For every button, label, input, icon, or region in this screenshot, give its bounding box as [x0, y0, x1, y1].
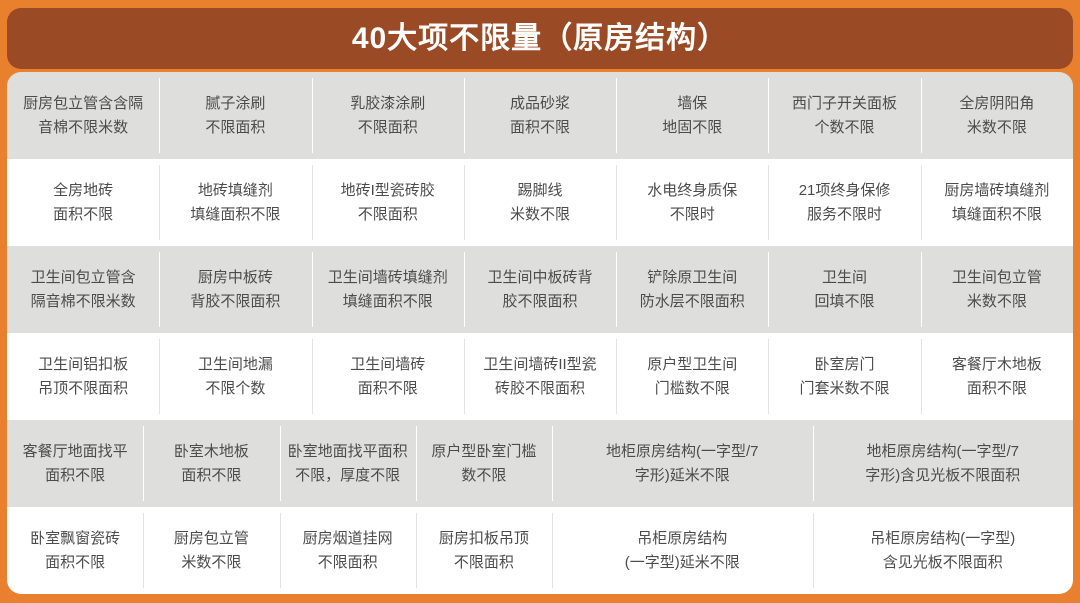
benefit-cell-label: 厨房墙砖填缝剂 填缝面积不限 — [944, 179, 1049, 226]
benefit-cell-label: 卫生间 回填不限 — [815, 266, 875, 313]
table-row: 卫生间铝扣板 吊顶不限面积卫生间地漏 不限个数卫生间墙砖 面积不限卫生间墙砖II… — [7, 333, 1073, 420]
page-banner: 40大项不限量（原房结构） — [7, 8, 1073, 69]
benefit-cell-label: 腻子涂刷 不限面积 — [205, 92, 265, 139]
benefit-cell[interactable]: 客餐厅地面找平 面积不限 — [7, 420, 143, 507]
benefit-cell[interactable]: 墙保 地固不限 — [616, 72, 768, 159]
benefit-cell-label: 厨房包立管 米数不限 — [174, 527, 249, 574]
benefit-cell[interactable]: 卧室地面找平面积 不限，厚度不限 — [280, 420, 416, 507]
benefit-cell[interactable]: 全房地砖 面积不限 — [7, 159, 159, 246]
benefit-cell-label: 卧室木地板 面积不限 — [174, 440, 249, 487]
benefit-cell[interactable]: 客餐厅木地板 面积不限 — [921, 333, 1073, 420]
benefit-cell-label: 地砖填缝剂 填缝面积不限 — [190, 179, 280, 226]
benefit-cell[interactable]: 厨房包立管含含隔 音棉不限米数 — [7, 72, 159, 159]
page-title: 40大项不限量（原房结构） — [352, 24, 728, 54]
benefit-cell-label: 厨房扣板吊顶 不限面积 — [439, 527, 529, 574]
benefit-cell-label: 卧室房门 门套米数不限 — [800, 353, 890, 400]
benefit-cell-label: 卫生间中板砖背 胶不限面积 — [487, 266, 592, 313]
benefit-cell[interactable]: 卧室飘窗瓷砖 面积不限 — [7, 507, 143, 594]
benefit-cell[interactable]: 卫生间 回填不限 — [768, 246, 920, 333]
benefit-cell[interactable]: 全房阴阳角 米数不限 — [921, 72, 1073, 159]
benefit-cell[interactable]: 卫生间包立管含 隔音棉不限米数 — [7, 246, 159, 333]
benefit-cell[interactable]: 卫生间墙砖II型瓷 砖胶不限面积 — [464, 333, 616, 420]
benefit-cell[interactable]: 吊柜原房结构(一字型) 含见光板不限面积 — [813, 507, 1074, 594]
benefit-cell[interactable]: 卫生间铝扣板 吊顶不限面积 — [7, 333, 159, 420]
benefit-cell-label: 吊柜原房结构 (一字型)延米不限 — [625, 527, 740, 574]
benefit-cell[interactable]: 厨房烟道挂网 不限面积 — [280, 507, 416, 594]
benefit-cell[interactable]: 铲除原卫生间 防水层不限面积 — [616, 246, 768, 333]
benefit-cell-label: 西门子开关面板 个数不限 — [792, 92, 897, 139]
benefits-grid: 厨房包立管含含隔 音棉不限米数腻子涂刷 不限面积乳胶漆涂刷 不限面积成品砂浆 面… — [7, 72, 1073, 594]
benefit-cell-label: 厨房包立管含含隔 音棉不限米数 — [23, 92, 143, 139]
benefit-cell-label: 地柜原房结构(一字型/7 字形)延米不限 — [606, 440, 759, 487]
benefit-cell[interactable]: 厨房墙砖填缝剂 填缝面积不限 — [921, 159, 1073, 246]
benefit-cell-label: 成品砂浆 面积不限 — [510, 92, 570, 139]
benefit-cell[interactable]: 地砖I型瓷砖胶 不限面积 — [312, 159, 464, 246]
benefit-cell-label: 卧室飘窗瓷砖 面积不限 — [30, 527, 120, 574]
benefit-cell[interactable]: 21项终身保修 服务不限时 — [768, 159, 920, 246]
table-row: 卧室飘窗瓷砖 面积不限厨房包立管 米数不限厨房烟道挂网 不限面积厨房扣板吊顶 不… — [7, 507, 1073, 594]
table-row: 卫生间包立管含 隔音棉不限米数厨房中板砖 背胶不限面积卫生间墙砖填缝剂 填缝面积… — [7, 246, 1073, 333]
benefit-cell[interactable]: 原户型卫生间 门槛数不限 — [616, 333, 768, 420]
benefit-cell-label: 客餐厅地面找平 面积不限 — [23, 440, 128, 487]
benefit-cell-label: 地砖I型瓷砖胶 不限面积 — [341, 179, 435, 226]
benefit-cell[interactable]: 厨房扣板吊顶 不限面积 — [416, 507, 552, 594]
benefit-cell-label: 原户型卧室门槛 数不限 — [431, 440, 536, 487]
benefit-cell[interactable]: 乳胶漆涂刷 不限面积 — [312, 72, 464, 159]
table-row: 厨房包立管含含隔 音棉不限米数腻子涂刷 不限面积乳胶漆涂刷 不限面积成品砂浆 面… — [7, 72, 1073, 159]
benefit-cell[interactable]: 水电终身质保 不限时 — [616, 159, 768, 246]
benefit-cell-label: 卫生间包立管含 隔音棉不限米数 — [31, 266, 136, 313]
benefit-cell-label: 卫生间地漏 不限个数 — [198, 353, 273, 400]
benefit-cell-label: 墙保 地固不限 — [662, 92, 722, 139]
benefit-cell-label: 卫生间墙砖填缝剂 填缝面积不限 — [328, 266, 448, 313]
benefit-cell[interactable]: 卫生间墙砖 面积不限 — [312, 333, 464, 420]
benefit-cell-label: 卧室地面找平面积 不限，厚度不限 — [288, 440, 408, 487]
benefit-cell-label: 21项终身保修 服务不限时 — [799, 179, 891, 226]
benefit-cell[interactable]: 成品砂浆 面积不限 — [464, 72, 616, 159]
benefit-cell[interactable]: 腻子涂刷 不限面积 — [159, 72, 311, 159]
benefit-cell[interactable]: 卫生间地漏 不限个数 — [159, 333, 311, 420]
benefit-cell[interactable]: 卧室木地板 面积不限 — [143, 420, 279, 507]
benefit-cell[interactable]: 厨房包立管 米数不限 — [143, 507, 279, 594]
benefit-cell-label: 全房阴阳角 米数不限 — [959, 92, 1034, 139]
table-row: 全房地砖 面积不限地砖填缝剂 填缝面积不限地砖I型瓷砖胶 不限面积踢脚线 米数不… — [7, 159, 1073, 246]
benefit-cell-label: 厨房中板砖 背胶不限面积 — [190, 266, 280, 313]
benefit-cell[interactable]: 吊柜原房结构 (一字型)延米不限 — [552, 507, 813, 594]
benefit-cell[interactable]: 地柜原房结构(一字型/7 字形)延米不限 — [552, 420, 813, 507]
benefit-cell[interactable]: 地柜原房结构(一字型/7 字形)含见光板不限面积 — [813, 420, 1074, 507]
promo-table-page: 40大项不限量（原房结构） 厨房包立管含含隔 音棉不限米数腻子涂刷 不限面积乳胶… — [0, 0, 1080, 603]
benefit-cell-label: 地柜原房结构(一字型/7 字形)含见光板不限面积 — [865, 440, 1020, 487]
benefit-cell-label: 乳胶漆涂刷 不限面积 — [350, 92, 425, 139]
benefit-cell-label: 水电终身质保 不限时 — [647, 179, 737, 226]
benefit-cell[interactable]: 原户型卧室门槛 数不限 — [416, 420, 552, 507]
benefit-cell-label: 客餐厅木地板 面积不限 — [952, 353, 1042, 400]
benefit-cell-label: 厨房烟道挂网 不限面积 — [303, 527, 393, 574]
benefit-cell-label: 全房地砖 面积不限 — [53, 179, 113, 226]
benefit-cell[interactable]: 地砖填缝剂 填缝面积不限 — [159, 159, 311, 246]
benefit-cell-label: 卫生间墙砖II型瓷 砖胶不限面积 — [483, 353, 596, 400]
benefit-cell[interactable]: 厨房中板砖 背胶不限面积 — [159, 246, 311, 333]
benefit-cell-label: 卫生间铝扣板 吊顶不限面积 — [38, 353, 128, 400]
benefit-cell[interactable]: 踢脚线 米数不限 — [464, 159, 616, 246]
benefit-cell-label: 铲除原卫生间 防水层不限面积 — [640, 266, 745, 313]
table-row: 客餐厅地面找平 面积不限卧室木地板 面积不限卧室地面找平面积 不限，厚度不限原户… — [7, 420, 1073, 507]
benefit-cell[interactable]: 卫生间中板砖背 胶不限面积 — [464, 246, 616, 333]
benefit-cell-label: 原户型卫生间 门槛数不限 — [647, 353, 737, 400]
benefit-cell-label: 卫生间墙砖 面积不限 — [350, 353, 425, 400]
benefit-cell-label: 吊柜原房结构(一字型) 含见光板不限面积 — [870, 527, 1015, 574]
benefit-cell[interactable]: 卫生间墙砖填缝剂 填缝面积不限 — [312, 246, 464, 333]
benefit-cell-label: 卫生间包立管 米数不限 — [952, 266, 1042, 313]
benefit-cell[interactable]: 卧室房门 门套米数不限 — [768, 333, 920, 420]
benefit-cell[interactable]: 卫生间包立管 米数不限 — [921, 246, 1073, 333]
benefit-cell-label: 踢脚线 米数不限 — [510, 179, 570, 226]
benefit-cell[interactable]: 西门子开关面板 个数不限 — [768, 72, 920, 159]
